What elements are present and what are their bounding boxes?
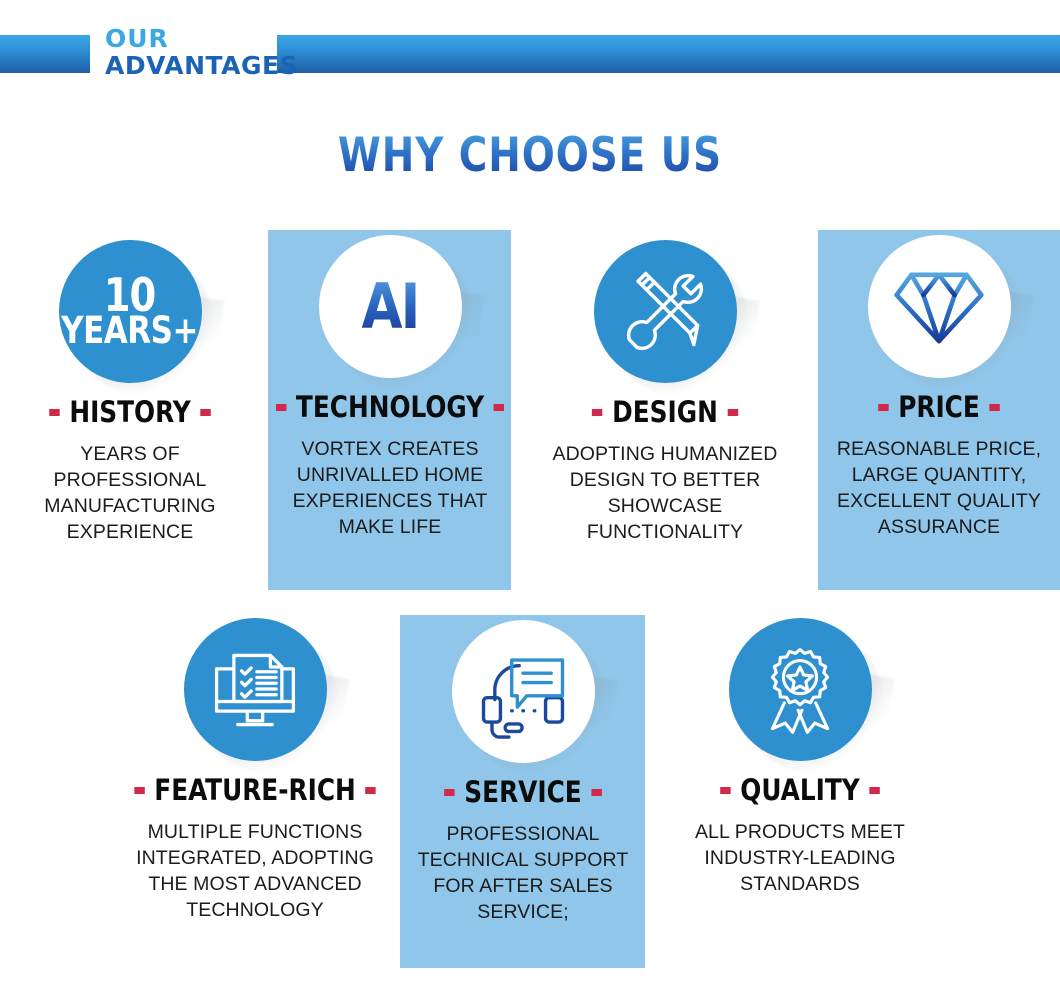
- card-desc-service: PROFESSIONAL TECHNICAL SUPPORT FOR AFTER…: [404, 822, 642, 926]
- dash-right-icon: [200, 409, 210, 416]
- years-label: YEARS+: [62, 315, 199, 348]
- diamond-icon: [868, 235, 1011, 378]
- dash-right-icon: [494, 404, 504, 411]
- card-title-text: FEATURE-RICH: [154, 773, 356, 807]
- dash-left-icon: [878, 404, 888, 411]
- card-history[interactable]: 10 YEARS+ HISTORY YEARS OF PROFESSIONAL …: [10, 240, 250, 546]
- icon-wrap-history: 10 YEARS+: [59, 240, 202, 383]
- card-service[interactable]: SERVICE PROFESSIONAL TECHNICAL SUPPORT F…: [404, 620, 642, 926]
- icon-wrap-feature-rich: [184, 618, 327, 761]
- card-title-design: DESIGN: [551, 395, 779, 429]
- icon-wrap-technology: AI: [319, 235, 462, 378]
- card-desc-quality: ALL PRODUCTS MEET INDUSTRY-LEADING STAND…: [678, 820, 922, 898]
- card-desc-technology: VORTEX CREATES UNRIVALLED HOME EXPERIENC…: [272, 437, 508, 541]
- card-technology[interactable]: AI TECHNOLOGY VORTEX CREATES UNRIVALLED …: [272, 235, 508, 541]
- icon-wrap-price: [868, 235, 1011, 378]
- dash-left-icon: [276, 404, 286, 411]
- header-label-line2: ADVANTAGES: [105, 53, 298, 78]
- card-title-history: HISTORY: [16, 395, 244, 429]
- years-badge-text: 10 YEARS+: [62, 275, 199, 348]
- card-title-text: QUALITY: [740, 773, 859, 807]
- card-title-text: TECHNOLOGY: [296, 390, 484, 424]
- ai-text: AI: [362, 270, 419, 343]
- card-title-text: DESIGN: [612, 395, 718, 429]
- card-desc-design: ADOPTING HUMANIZED DESIGN TO BETTER SHOW…: [545, 442, 785, 546]
- icon-wrap-service: [452, 620, 595, 763]
- dash-right-icon: [869, 787, 879, 794]
- card-feature-rich[interactable]: FEATURE-RICH MULTIPLE FUNCTIONS INTEGRAT…: [130, 618, 380, 924]
- card-title-text: PRICE: [898, 390, 980, 424]
- dash-left-icon: [444, 789, 454, 796]
- 10-years-badge-icon: 10 YEARS+: [59, 240, 202, 383]
- card-desc-feature-rich: MULTIPLE FUNCTIONS INTEGRATED, ADOPTING …: [130, 820, 380, 924]
- dash-left-icon: [592, 409, 602, 416]
- card-title-price: PRICE: [828, 390, 1050, 424]
- icon-wrap-quality: [729, 618, 872, 761]
- card-design[interactable]: DESIGN ADOPTING HUMANIZED DESIGN TO BETT…: [545, 240, 785, 546]
- dash-right-icon: [989, 404, 999, 411]
- card-desc-price: REASONABLE PRICE, LARGE QUANTITY, EXCELL…: [822, 437, 1056, 541]
- dash-right-icon: [591, 789, 601, 796]
- card-title-service: SERVICE: [410, 775, 636, 809]
- award-ribbon-icon: [729, 618, 872, 761]
- headset-support-icon: [452, 620, 595, 763]
- card-quality[interactable]: QUALITY ALL PRODUCTS MEET INDUSTRY-LEADI…: [678, 618, 922, 898]
- card-desc-history: YEARS OF PROFESSIONAL MANUFACTURING EXPE…: [10, 442, 250, 546]
- card-title-technology: TECHNOLOGY: [278, 390, 502, 424]
- monitor-checklist-icon: [184, 618, 327, 761]
- header-label: OUR ADVANTAGES: [105, 26, 298, 78]
- advantages-grid: 10 YEARS+ HISTORY YEARS OF PROFESSIONAL …: [0, 0, 1060, 995]
- dash-right-icon: [365, 787, 375, 794]
- dash-left-icon: [134, 787, 144, 794]
- card-title-feature-rich: FEATURE-RICH: [136, 773, 374, 807]
- icon-wrap-design: [594, 240, 737, 383]
- dash-right-icon: [727, 409, 737, 416]
- dash-left-icon: [49, 409, 59, 416]
- ai-icon: AI: [319, 235, 462, 378]
- card-title-quality: QUALITY: [684, 773, 916, 807]
- card-title-text: HISTORY: [69, 395, 190, 429]
- card-price[interactable]: PRICE REASONABLE PRICE, LARGE QUANTITY, …: [822, 235, 1056, 541]
- wrench-pencil-icon: [594, 240, 737, 383]
- dash-left-icon: [720, 787, 730, 794]
- card-title-text: SERVICE: [464, 775, 581, 809]
- header-label-line1: OUR: [105, 26, 298, 51]
